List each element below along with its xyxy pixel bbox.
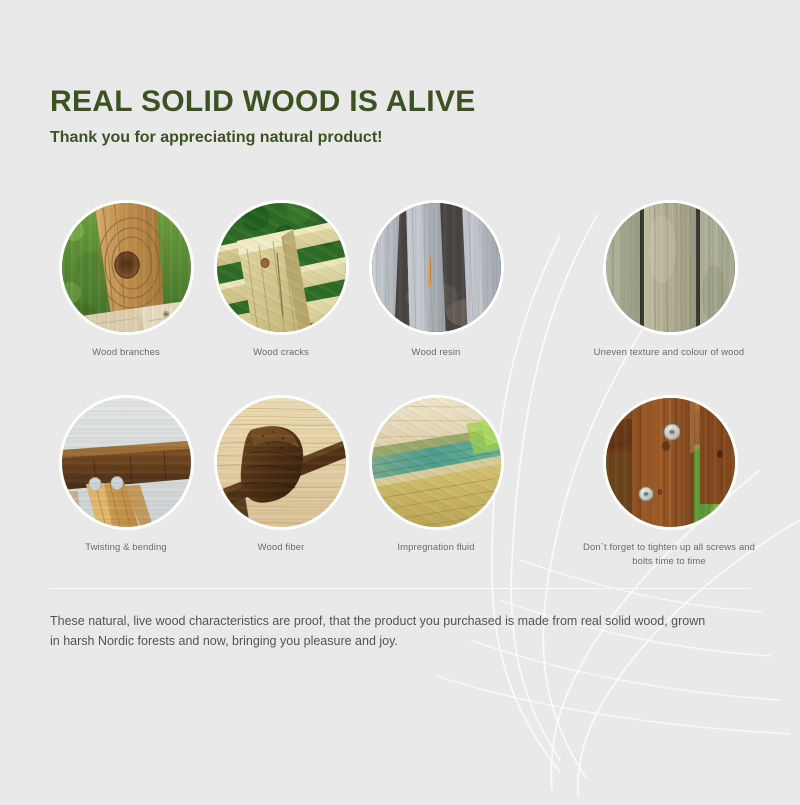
page-subtitle: Thank you for appreciating natural produ… — [50, 129, 476, 147]
wood-cracks-photo — [214, 200, 349, 335]
tighten-screws-art — [604, 396, 737, 529]
grain-overlay — [60, 396, 193, 529]
feature-item-wood-cracks: Wood cracks — [203, 200, 359, 360]
feature-caption: Don`t forget to tighten up all screws an… — [574, 541, 764, 569]
footer-paragraph: These natural, live wood characteristics… — [50, 611, 710, 652]
feature-caption: Uneven texture and colour of wood — [574, 346, 764, 360]
feature-item-wood-branches: Wood branches — [48, 200, 204, 360]
impregnation-fluid-art — [370, 396, 503, 529]
feature-caption: Twisting & bending — [48, 541, 204, 555]
wood-resin-art — [370, 201, 503, 334]
feature-caption: Wood resin — [358, 346, 514, 360]
grain-overlay — [214, 200, 349, 335]
impregnation-fluid-photo — [369, 395, 504, 530]
feature-item-tighten-screws: Don`t forget to tighten up all screws an… — [592, 395, 748, 569]
wood-fiber-art — [215, 396, 348, 529]
footer-divider — [50, 588, 750, 589]
grain-overlay — [604, 201, 737, 334]
feature-caption: Wood cracks — [203, 346, 359, 360]
grain-overlay — [215, 396, 348, 529]
grain-overlay — [60, 201, 193, 334]
tighten-screws-photo — [603, 395, 738, 530]
feature-caption: Wood fiber — [203, 541, 359, 555]
wood-branches-art — [60, 201, 193, 334]
wood-branches-photo — [59, 200, 194, 335]
feature-item-wood-resin: Wood resin — [358, 200, 514, 360]
wood-cracks-art — [215, 201, 348, 334]
feature-caption: Wood branches — [48, 346, 204, 360]
twisting-bending-art — [60, 396, 193, 529]
uneven-texture-photo — [603, 200, 738, 335]
page-header: REAL SOLID WOOD IS ALIVE Thank you for a… — [50, 86, 476, 146]
page-title: REAL SOLID WOOD IS ALIVE — [50, 86, 476, 118]
feature-item-uneven-texture: Uneven texture and colour of wood — [592, 200, 748, 360]
twisting-bending-photo — [59, 395, 194, 530]
grain-overlay — [604, 396, 737, 529]
feature-item-wood-fiber: Wood fiber — [203, 395, 359, 555]
wood-fiber-photo — [214, 395, 349, 530]
grain-overlay — [370, 201, 503, 334]
grain-overlay — [369, 395, 504, 530]
feature-item-impregnation-fluid: Impregnation fluid — [358, 395, 514, 555]
feature-item-twisting-bending: Twisting & bending — [48, 395, 204, 555]
uneven-texture-art — [604, 201, 737, 334]
feature-caption: Impregnation fluid — [358, 541, 514, 555]
wood-resin-photo — [369, 200, 504, 335]
